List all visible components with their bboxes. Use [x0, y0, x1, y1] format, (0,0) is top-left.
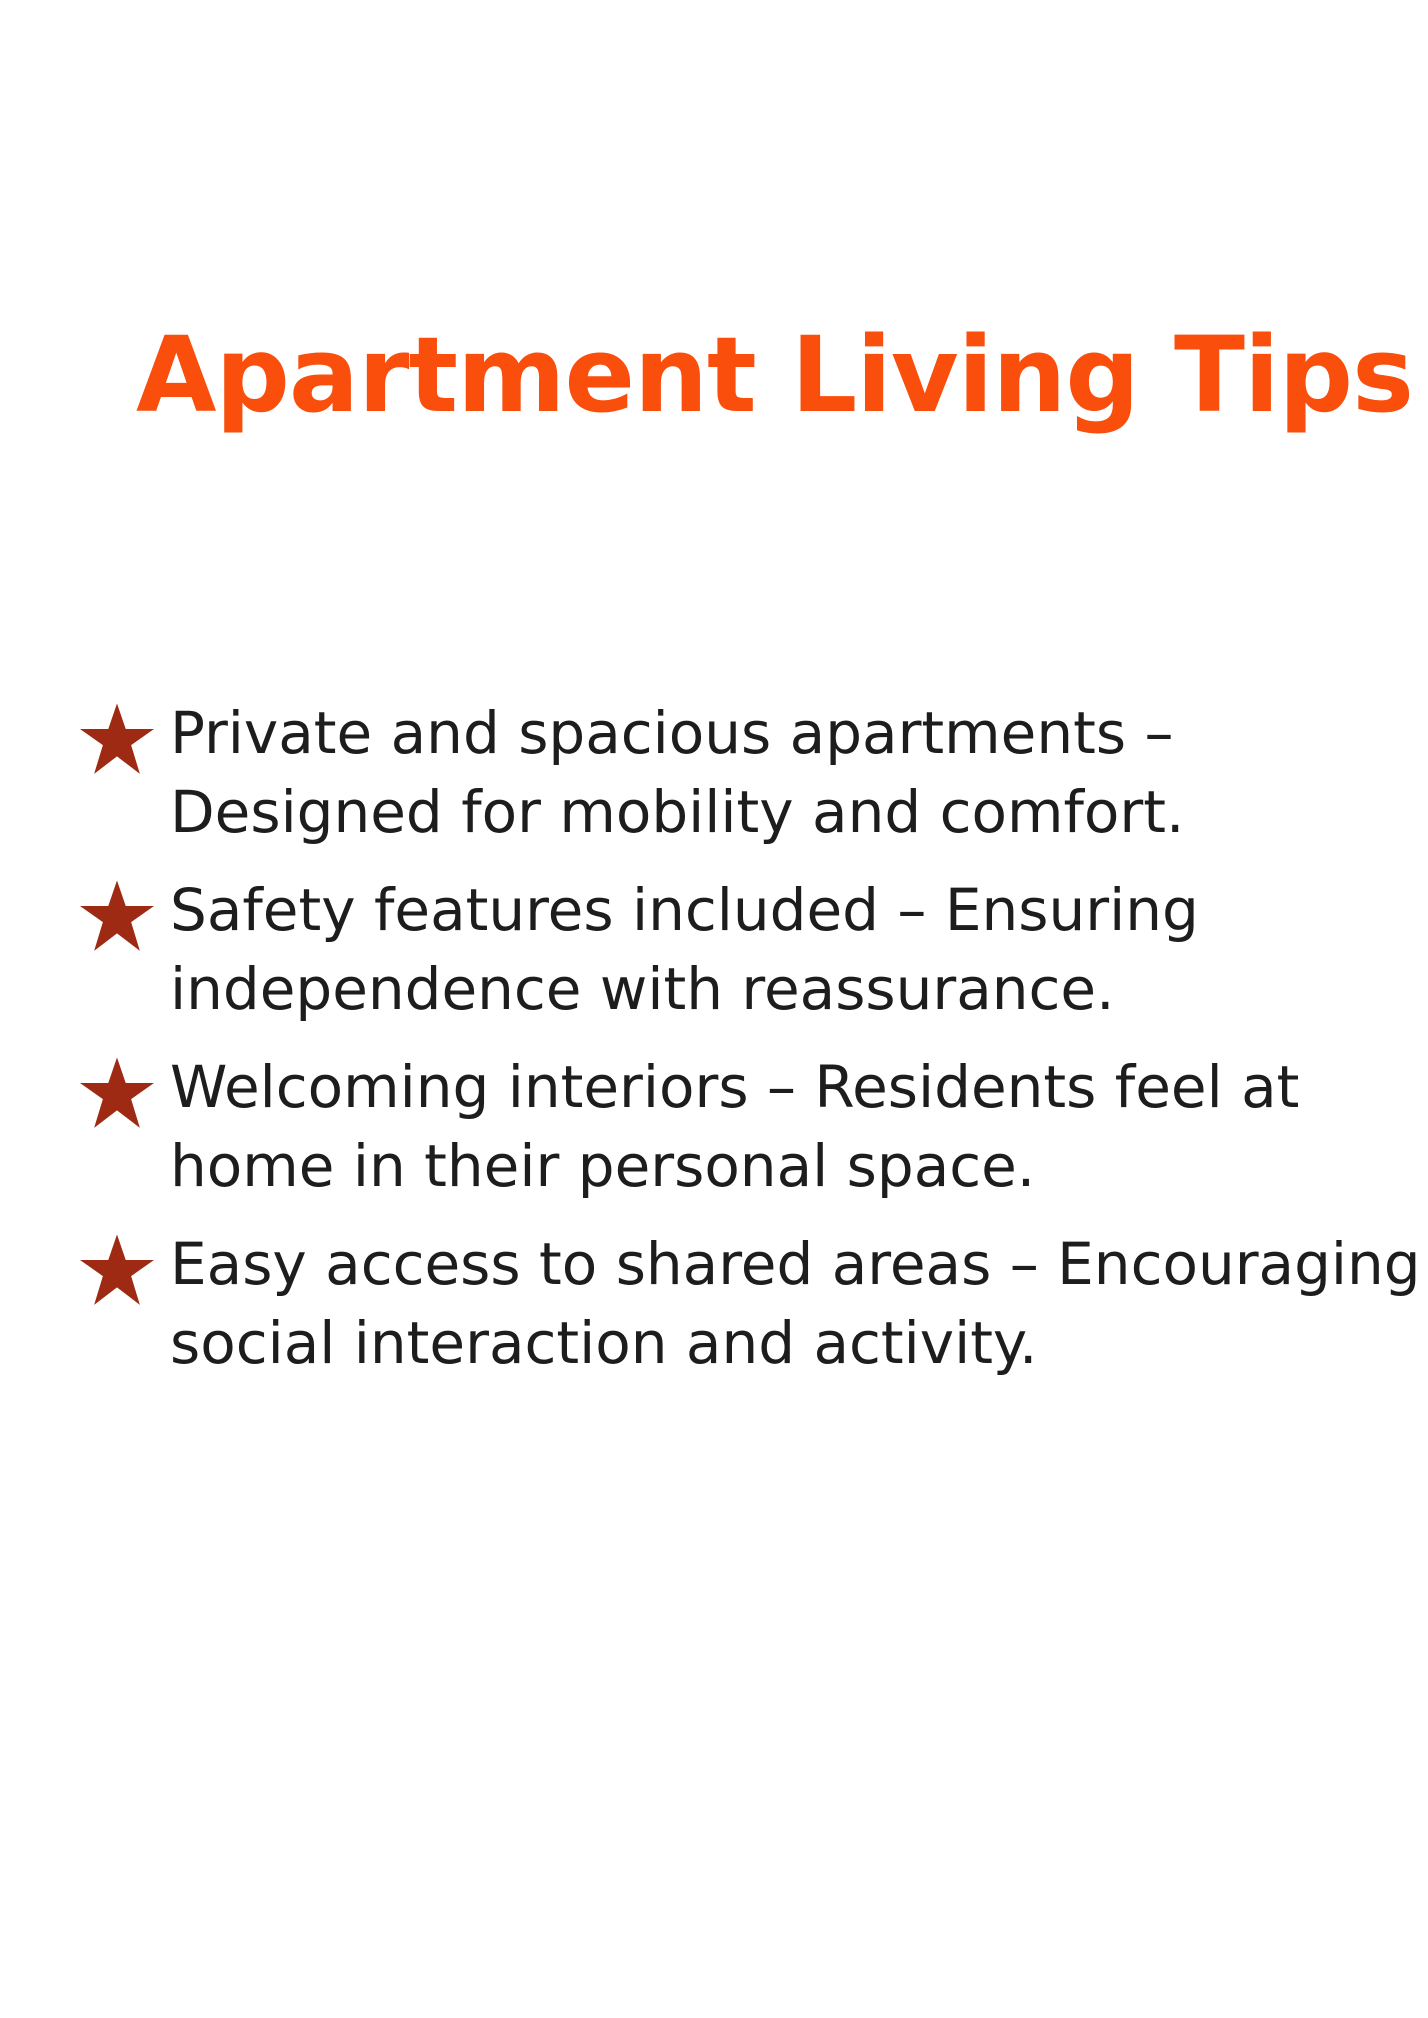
list-item-text: Welcoming interiors – Residents feel at … — [170, 1048, 1428, 1207]
title-container: Apartment Living Tips — [136, 310, 1428, 440]
star-icon — [80, 1056, 154, 1130]
list-item-line-1: Easy access to shared areas – Encouragin… — [170, 1225, 1428, 1304]
list-item: Easy access to shared areas – Encouragin… — [76, 1225, 1428, 1384]
list-item: Safety features included – Ensuring inde… — [76, 871, 1428, 1030]
list-item-text: Private and spacious apartments – Design… — [170, 694, 1428, 853]
slide-canvas: Apartment Living Tips Private and spacio… — [0, 0, 1428, 2018]
star-icon — [80, 702, 154, 776]
list-item-line-1: Safety features included – Ensuring — [170, 871, 1428, 950]
star-icon — [80, 879, 154, 953]
list-item-line-1: Welcoming interiors – Residents feel at — [170, 1048, 1428, 1127]
star-icon — [80, 1233, 154, 1307]
list-item-line-2: home in their personal space. — [170, 1127, 1428, 1206]
list-item-line-2: social interaction and activity. — [170, 1304, 1428, 1383]
list-item: Welcoming interiors – Residents feel at … — [76, 1048, 1428, 1207]
page-title: Apartment Living Tips — [136, 310, 1428, 440]
list-item-line-1: Private and spacious apartments – — [170, 694, 1428, 773]
list-item-text: Easy access to shared areas – Encouragin… — [170, 1225, 1428, 1384]
list-item-line-2: independence with reassurance. — [170, 950, 1428, 1029]
list-item-line-2: Designed for mobility and comfort. — [170, 773, 1428, 852]
list-item: Private and spacious apartments – Design… — [76, 694, 1428, 853]
list-item-text: Safety features included – Ensuring inde… — [170, 871, 1428, 1030]
bullet-list: Private and spacious apartments – Design… — [76, 694, 1428, 1402]
